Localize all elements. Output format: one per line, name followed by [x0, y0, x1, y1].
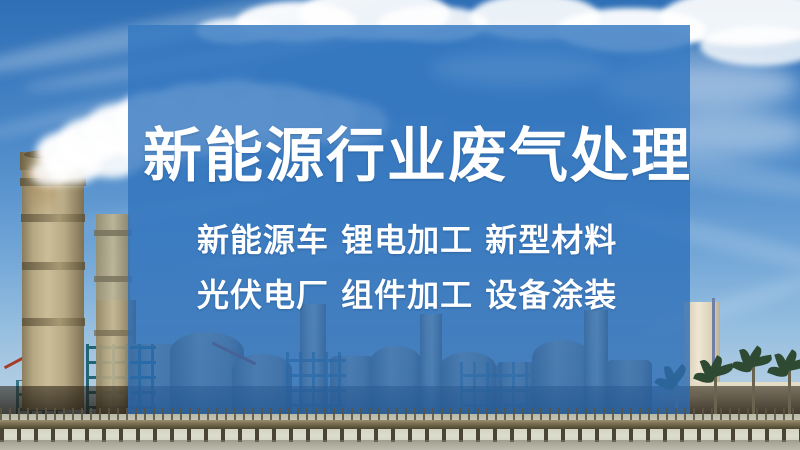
banner-text-layer: 新能源行业废气处理 新能源车 锂电加工 新型材料 光伏电厂 组件加工 设备涂装: [0, 0, 800, 450]
banner-title: 新能源行业废气处理: [143, 126, 692, 185]
banner-stage: 新能源行业废气处理 新能源车 锂电加工 新型材料 光伏电厂 组件加工 设备涂装: [0, 0, 800, 450]
banner-subtitle-line-1: 新能源车 锂电加工 新型材料: [197, 224, 617, 256]
banner-subtitle-line-2: 光伏电厂 组件加工 设备涂装: [197, 279, 617, 311]
